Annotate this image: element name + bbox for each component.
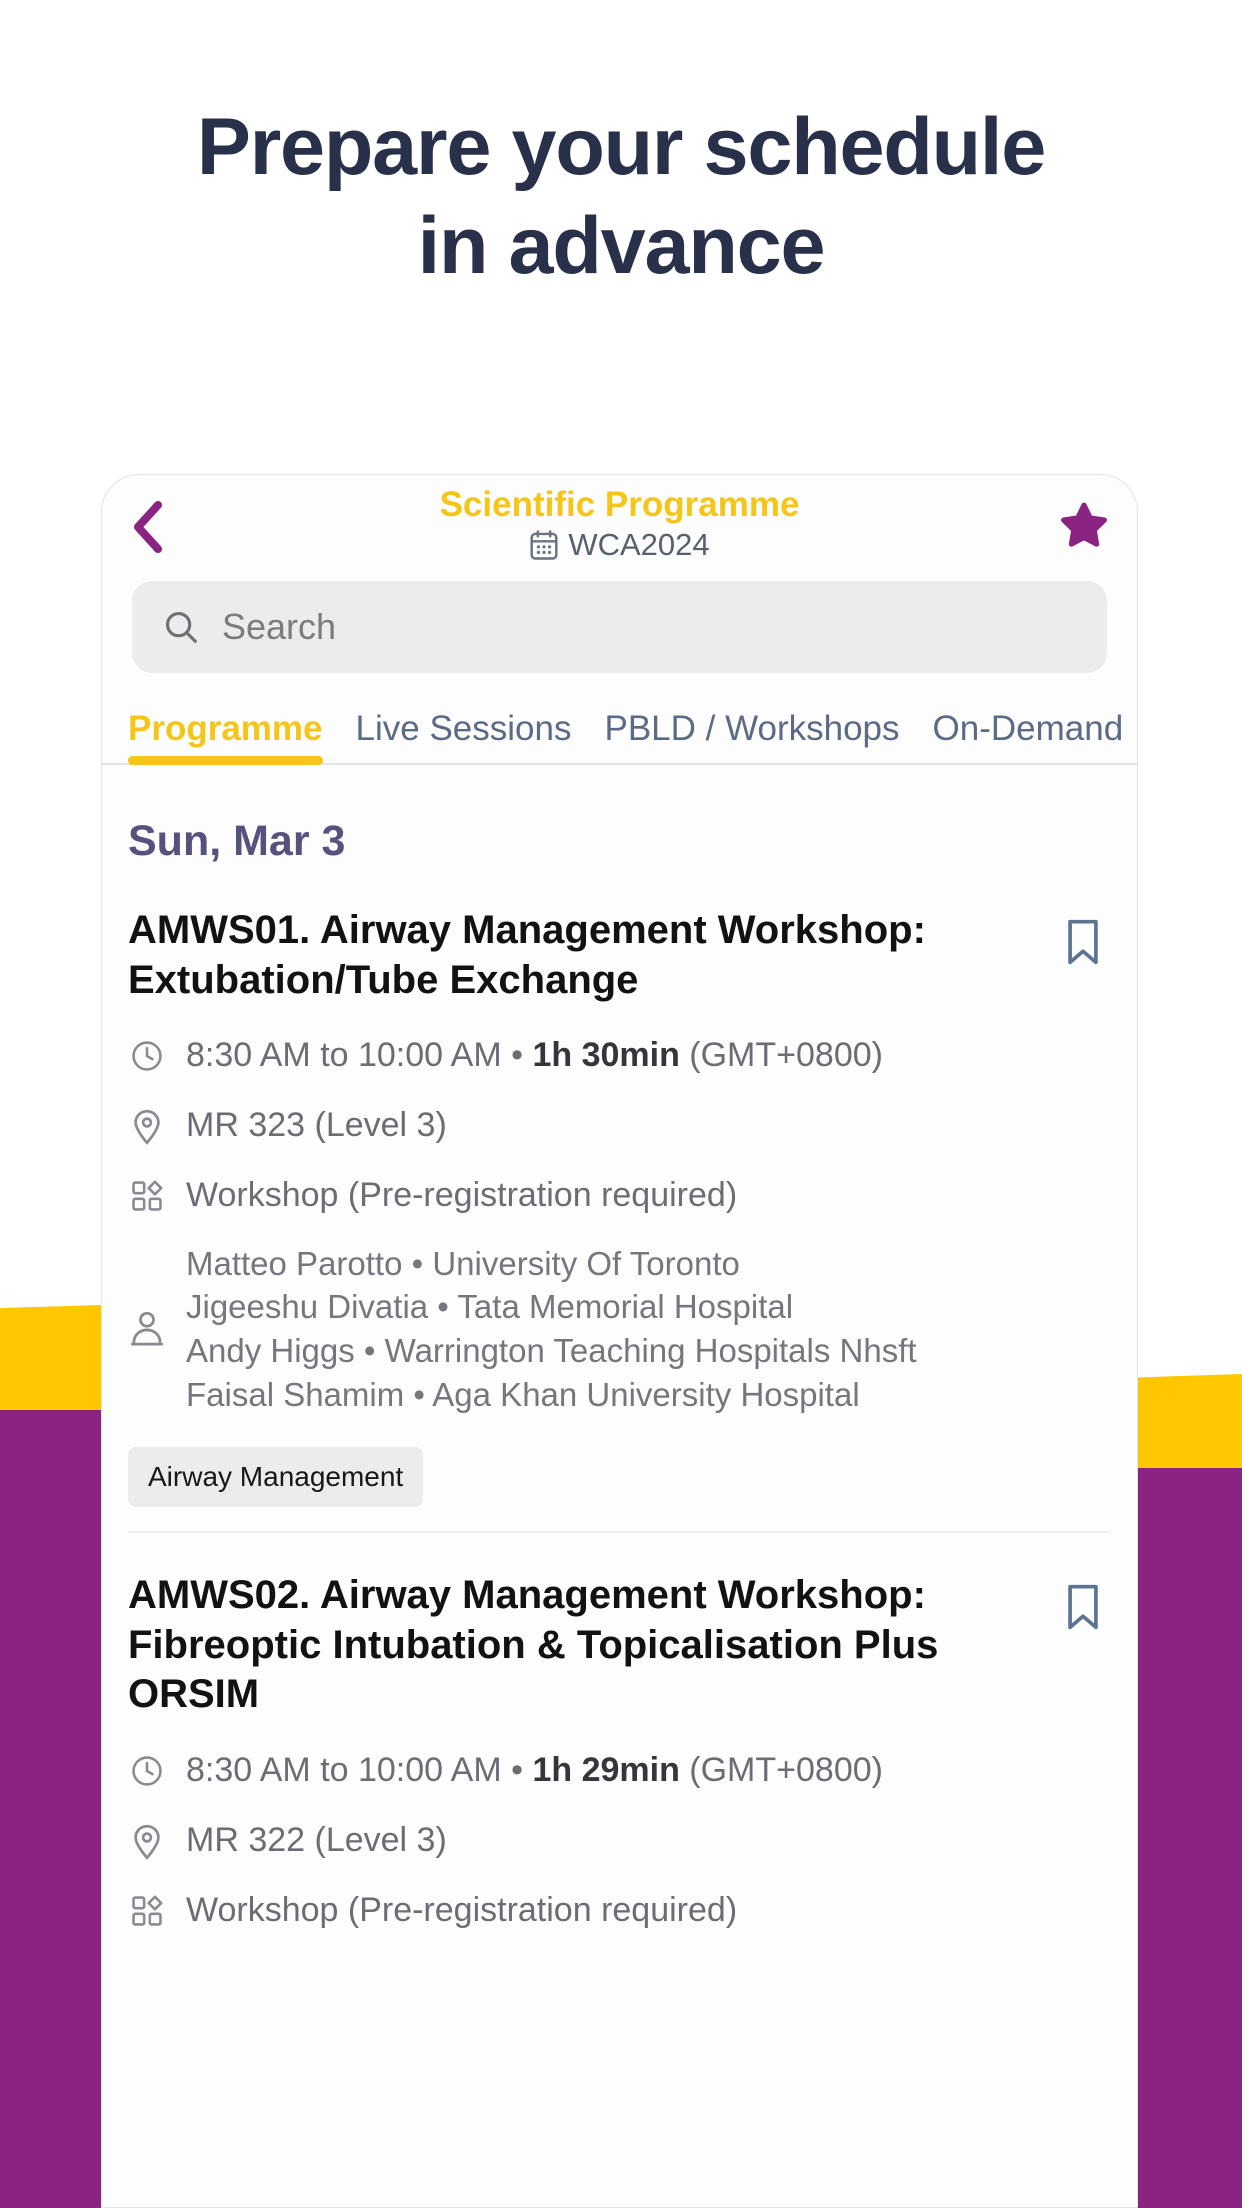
tag-chip[interactable]: Airway Management <box>128 1447 423 1507</box>
category-icon <box>128 1890 166 1928</box>
decor-block-left-purple <box>0 1410 103 2208</box>
page-title: Scientific Programme <box>102 485 1137 524</box>
session-header: AMWS02. Airway Management Workshop: Fibr… <box>128 1571 1111 1720</box>
clock-icon <box>128 1035 166 1073</box>
session-tags: Airway Management <box>128 1447 1111 1507</box>
app-header: Scientific Programme WCA2024 <box>102 475 1137 577</box>
search-input[interactable]: Search <box>132 581 1107 673</box>
session-timezone: (GMT+0800) <box>680 1751 883 1789</box>
session-speakers-row: Matteo Parotto • University Of Toronto J… <box>128 1242 1111 1418</box>
session-location: MR 323 (Level 3) <box>186 1105 447 1145</box>
person-icon <box>128 1310 166 1348</box>
decor-block-left-yellow <box>0 1305 103 1413</box>
map-pin-icon <box>128 1820 166 1860</box>
session-duration: 1h 29min <box>532 1751 679 1789</box>
session-timezone: (GMT+0800) <box>680 1036 883 1074</box>
tab-pbld-workshops[interactable]: PBLD / Workshops <box>604 709 899 763</box>
category-icon <box>128 1175 166 1213</box>
session-time-row: 8:30 AM to 10:00 AM • 1h 30min (GMT+0800… <box>128 1035 1111 1075</box>
search-section: Search <box>102 577 1137 673</box>
session-list: Sun, Mar 3 AMWS01. Airway Management Wor… <box>102 765 1137 1954</box>
session-time: 8:30 AM to 10:00 AM • 1h 30min (GMT+0800… <box>186 1035 883 1075</box>
search-icon <box>162 608 200 646</box>
session-item[interactable]: AMWS01. Airway Management Workshop: Extu… <box>128 906 1111 1531</box>
session-type: Workshop (Pre-registration required) <box>186 1175 737 1215</box>
back-button[interactable] <box>122 499 174 555</box>
session-item[interactable]: AMWS02. Airway Management Workshop: Fibr… <box>128 1531 1111 1954</box>
bookmark-button[interactable] <box>1055 906 1111 966</box>
tab-live-sessions[interactable]: Live Sessions <box>356 709 572 763</box>
session-time-range: 8:30 AM to 10:00 AM • <box>186 1751 532 1789</box>
session-location-row: MR 322 (Level 3) <box>128 1820 1111 1860</box>
bookmark-icon <box>1064 918 1102 966</box>
tab-programme[interactable]: Programme <box>128 709 323 763</box>
session-duration: 1h 30min <box>532 1036 679 1074</box>
session-time-range: 8:30 AM to 10:00 AM • <box>186 1036 532 1074</box>
session-header: AMWS01. Airway Management Workshop: Extu… <box>128 906 1111 1005</box>
day-heading: Sun, Mar 3 <box>128 765 1111 906</box>
session-title: AMWS01. Airway Management Workshop: Extu… <box>128 906 1037 1005</box>
bookmark-button[interactable] <box>1055 1571 1111 1631</box>
chevron-left-icon <box>131 501 165 553</box>
session-type-row: Workshop (Pre-registration required) <box>128 1175 1111 1215</box>
bookmark-icon <box>1064 1583 1102 1631</box>
session-title: AMWS02. Airway Management Workshop: Fibr… <box>128 1571 1037 1720</box>
header-titles: Scientific Programme WCA2024 <box>102 475 1137 562</box>
decor-block-right-yellow <box>1120 1374 1242 1473</box>
calendar-icon <box>529 529 559 561</box>
page-headline: Prepare your schedule in advance <box>0 98 1242 296</box>
session-location: MR 322 (Level 3) <box>186 1820 447 1860</box>
session-time-row: 8:30 AM to 10:00 AM • 1h 29min (GMT+0800… <box>128 1750 1111 1790</box>
headline-line-1: Prepare your schedule <box>197 102 1045 192</box>
session-speakers: Matteo Parotto • University Of Toronto J… <box>186 1242 917 1418</box>
session-time: 8:30 AM to 10:00 AM • 1h 29min (GMT+0800… <box>186 1750 883 1790</box>
phone-mockup: Scientific Programme WCA2024 <box>101 474 1138 2208</box>
search-placeholder: Search <box>222 606 336 648</box>
favorite-button[interactable] <box>1055 497 1113 555</box>
session-location-row: MR 323 (Level 3) <box>128 1105 1111 1145</box>
tab-bar: Programme Live Sessions PBLD / Workshops… <box>102 709 1137 765</box>
tab-on-demand[interactable]: On-Demand <box>933 709 1124 763</box>
star-icon <box>1057 500 1111 552</box>
clock-icon <box>128 1750 166 1788</box>
event-subtitle: WCA2024 <box>102 528 1137 562</box>
map-pin-icon <box>128 1105 166 1145</box>
session-type: Workshop (Pre-registration required) <box>186 1890 737 1930</box>
event-code: WCA2024 <box>568 528 709 562</box>
decor-block-right-purple <box>1120 1468 1242 2208</box>
session-type-row: Workshop (Pre-registration required) <box>128 1890 1111 1930</box>
headline-line-2: in advance <box>0 197 1242 296</box>
